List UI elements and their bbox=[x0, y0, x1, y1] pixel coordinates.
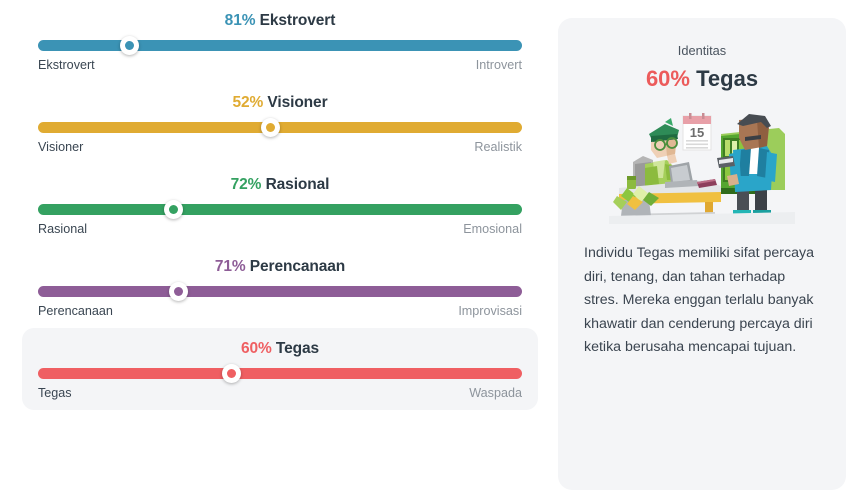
trait-slider-track[interactable] bbox=[38, 204, 522, 215]
trait-pole-left: Ekstrovert bbox=[38, 57, 95, 74]
trait-slider-knob[interactable] bbox=[164, 200, 183, 219]
identity-percent: 60% bbox=[646, 66, 690, 91]
trait-pole-right: Emosional bbox=[463, 221, 522, 238]
trait-pole-left: Visioner bbox=[38, 139, 83, 156]
trait-name: Rasional bbox=[266, 176, 330, 193]
identity-label: Identitas bbox=[580, 42, 824, 60]
trait-percent: 60% bbox=[241, 340, 272, 357]
trait-row: 71% PerencanaanPerencanaanImprovisasi bbox=[22, 246, 538, 328]
trait-slider[interactable] bbox=[38, 38, 522, 52]
trait-name: Visioner bbox=[267, 94, 327, 111]
trait-slider-knob[interactable] bbox=[120, 36, 139, 55]
trait-slider[interactable] bbox=[38, 202, 522, 216]
trait-slider-knob[interactable] bbox=[169, 282, 188, 301]
identity-description: Individu Tegas memiliki sifat percaya di… bbox=[580, 242, 824, 360]
trait-slider-knob-dot bbox=[174, 287, 183, 296]
identity-card: Identitas 60% Tegas 15 bbox=[558, 18, 846, 490]
trait-poles: VisionerRealistik bbox=[38, 139, 522, 156]
trait-name: Ekstrovert bbox=[260, 12, 336, 29]
trait-headline: 81% Ekstrovert bbox=[38, 10, 522, 32]
trait-slider-track[interactable] bbox=[38, 40, 522, 51]
trait-slider[interactable] bbox=[38, 120, 522, 134]
trait-name: Tegas bbox=[276, 340, 319, 357]
trait-slider-track[interactable] bbox=[38, 122, 522, 133]
trait-pole-right: Realistik bbox=[474, 139, 522, 156]
personality-report-panel: 81% EkstrovertEkstrovertIntrovert52% Vis… bbox=[0, 0, 865, 499]
calendar-icon: 15 bbox=[683, 113, 711, 150]
trait-pole-left: Tegas bbox=[38, 385, 72, 402]
trait-slider-knob-dot bbox=[169, 205, 178, 214]
coffee-cup bbox=[627, 176, 636, 189]
trait-percent: 52% bbox=[232, 94, 263, 111]
trait-slider-knob-dot bbox=[266, 123, 275, 132]
trait-percent: 81% bbox=[225, 12, 256, 29]
identity-value: 60% Tegas bbox=[580, 62, 824, 96]
trait-slider-knob-dot bbox=[125, 41, 134, 50]
trait-headline: 60% Tegas bbox=[38, 338, 522, 360]
trait-row: 60% TegasTegasWaspada bbox=[22, 328, 538, 410]
identity-name: Tegas bbox=[696, 66, 758, 91]
trait-headline: 72% Rasional bbox=[38, 174, 522, 196]
svg-text:15: 15 bbox=[690, 125, 704, 140]
trait-slider-list: 81% EkstrovertEkstrovertIntrovert52% Vis… bbox=[0, 0, 558, 499]
trait-percent: 71% bbox=[215, 258, 246, 275]
trait-pole-right: Waspada bbox=[469, 385, 522, 402]
trait-pole-left: Rasional bbox=[38, 221, 87, 238]
trait-percent: 72% bbox=[231, 176, 262, 193]
trait-pole-right: Improvisasi bbox=[458, 303, 522, 320]
trait-slider-knob-dot bbox=[227, 369, 236, 378]
trait-headline: 52% Visioner bbox=[38, 92, 522, 114]
trait-slider[interactable] bbox=[38, 366, 522, 380]
trait-slider-track[interactable] bbox=[38, 286, 522, 297]
trait-slider-knob[interactable] bbox=[222, 364, 241, 383]
trait-row: 81% EkstrovertEkstrovertIntrovert bbox=[22, 0, 538, 82]
trait-headline: 71% Perencanaan bbox=[38, 256, 522, 278]
trait-pole-right: Introvert bbox=[476, 57, 522, 74]
trait-slider-knob[interactable] bbox=[261, 118, 280, 137]
trait-pole-left: Perencanaan bbox=[38, 303, 113, 320]
trait-row: 72% RasionalRasionalEmosional bbox=[22, 164, 538, 246]
trait-slider[interactable] bbox=[38, 284, 522, 298]
trait-poles: PerencanaanImprovisasi bbox=[38, 303, 522, 320]
trait-poles: TegasWaspada bbox=[38, 385, 522, 402]
trait-name: Perencanaan bbox=[250, 258, 345, 275]
trait-row: 52% VisionerVisionerRealistik bbox=[22, 82, 538, 164]
trait-poles: RasionalEmosional bbox=[38, 221, 522, 238]
trait-poles: EkstrovertIntrovert bbox=[38, 57, 522, 74]
trait-slider-track[interactable] bbox=[38, 368, 522, 379]
office-workers-illustration: 15 bbox=[609, 104, 795, 224]
